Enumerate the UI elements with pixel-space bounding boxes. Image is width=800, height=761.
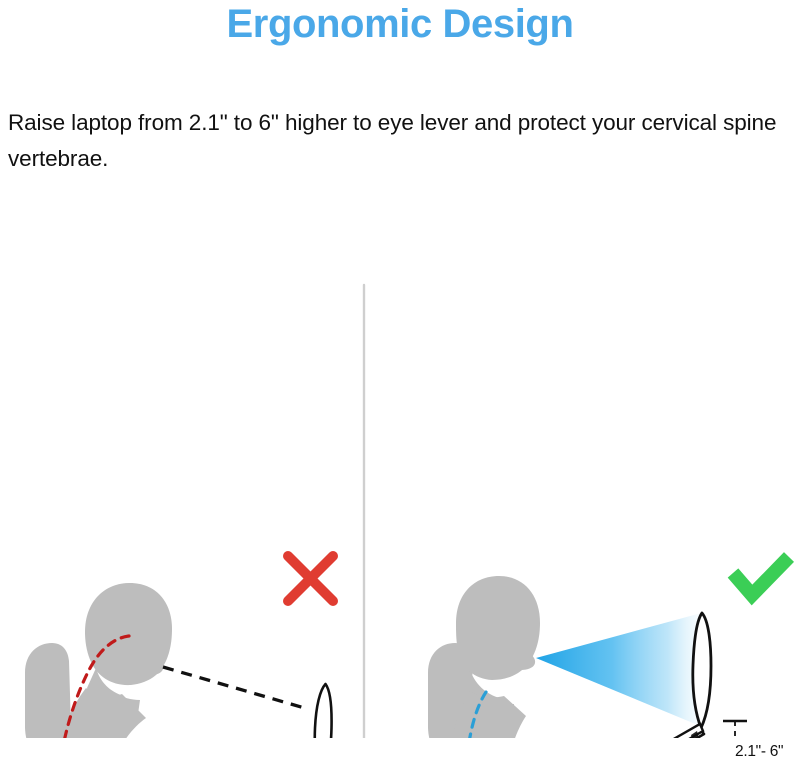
body-description: Raise laptop from 2.1" to 6" higher to e… <box>8 105 792 178</box>
dimension-indicator <box>723 721 747 738</box>
illustration-area: 2.1"- 6" <box>0 258 800 738</box>
left-person-figure <box>41 583 253 738</box>
check-icon <box>733 557 789 595</box>
right-panel-illustration <box>405 557 789 738</box>
left-laptop <box>192 684 332 738</box>
page-title: Ergonomic Design <box>0 0 800 47</box>
header: Ergonomic Design Raise laptop from 2.1" … <box>0 0 800 47</box>
vision-cone <box>536 612 705 728</box>
left-panel-illustration <box>2 556 355 738</box>
cross-icon <box>288 556 333 601</box>
sight-line-incorrect <box>163 667 308 709</box>
page-root: Ergonomic Design Raise laptop from 2.1" … <box>0 0 800 738</box>
dimension-label: 2.1"- 6" <box>735 743 783 761</box>
